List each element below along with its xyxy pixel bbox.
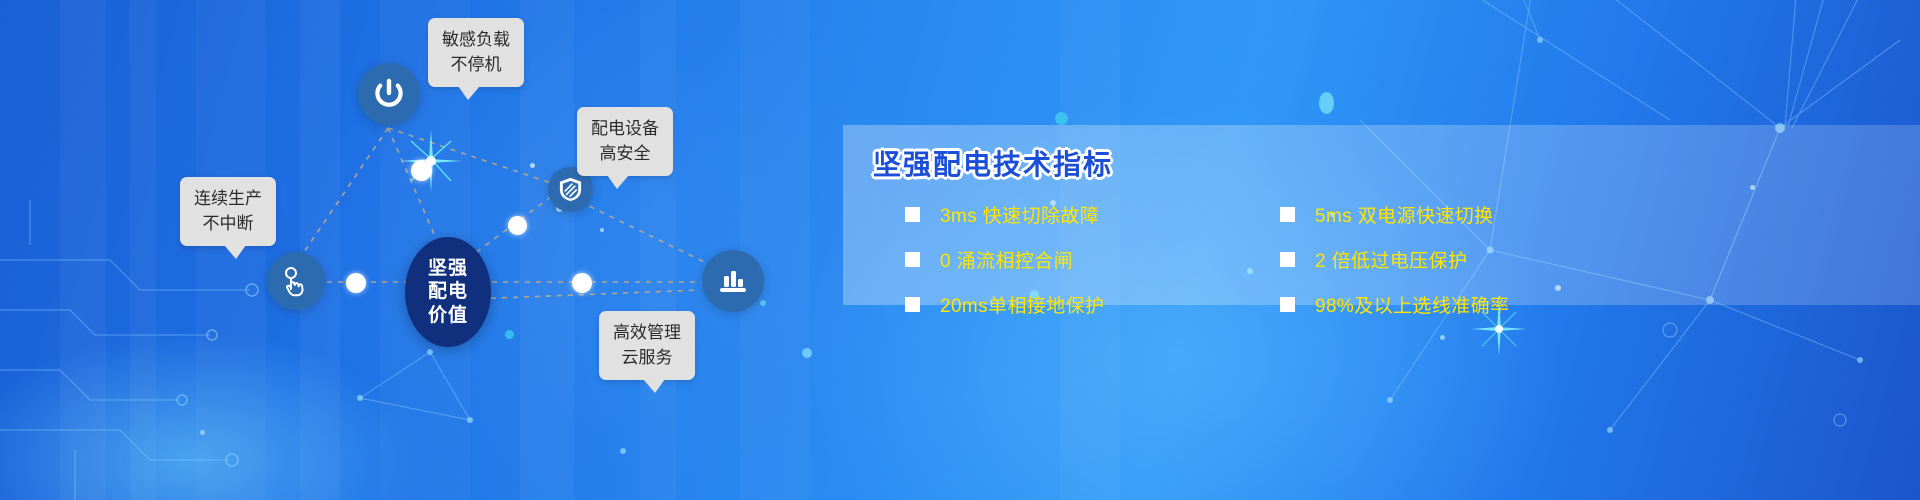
square-bullet-icon (905, 252, 920, 267)
indicator-item[interactable]: 20ms单相接地保护 (905, 291, 1280, 318)
node-touch[interactable] (267, 252, 325, 310)
value-network-diagram: 坚强 配电 价值 (0, 0, 860, 500)
tech-indicators-panel: 坚强配电技术指标 3ms 快速切除故障 5ms 双电源快速切换 0 涌流相控合闸… (843, 125, 1920, 305)
callout-line: 高安全 (591, 142, 659, 167)
callout-tail (458, 86, 480, 100)
indicator-label: 0 涌流相控合闸 (940, 246, 1073, 273)
square-bullet-icon (1280, 297, 1295, 312)
callout-touch: 连续生产 不中断 (180, 177, 276, 246)
callout-line: 不停机 (442, 53, 510, 78)
callout-tail (224, 245, 246, 259)
square-bullet-icon (905, 297, 920, 312)
route-dot (346, 273, 366, 293)
callout-line: 云服务 (613, 346, 681, 371)
node-chart[interactable] (702, 250, 764, 312)
panel-title: 坚强配电技术指标 (873, 143, 1113, 183)
indicator-label: 3ms 快速切除故障 (940, 201, 1099, 228)
square-bullet-icon (905, 207, 920, 222)
indicator-list: 3ms 快速切除故障 5ms 双电源快速切换 0 涌流相控合闸 2 倍低过电压保… (905, 201, 1905, 318)
callout-line: 敏感负载 (442, 28, 510, 53)
indicator-item[interactable]: 98%及以上选线准确率 (1280, 291, 1655, 318)
route-dot (508, 216, 527, 235)
power-button-icon (371, 76, 407, 112)
hub-node[interactable]: 坚强 配电 价值 (405, 237, 491, 347)
callout-line: 配电设备 (591, 117, 659, 142)
callout-line: 不中断 (194, 212, 262, 237)
bar-chart-cloud-icon (715, 263, 751, 299)
square-bullet-icon (1280, 252, 1295, 267)
callout-line: 高效管理 (613, 321, 681, 346)
callout-power: 敏感负载 不停机 (428, 18, 524, 87)
indicator-item[interactable]: 5ms 双电源快速切换 (1280, 201, 1655, 228)
route-dot (411, 160, 432, 181)
indicator-label: 98%及以上选线准确率 (1315, 291, 1509, 318)
indicator-item[interactable]: 3ms 快速切除故障 (905, 201, 1280, 228)
hand-touch-icon (279, 264, 313, 298)
banner-stage: 坚强 配电 价值 (0, 0, 1920, 500)
shield-check-icon (557, 176, 584, 203)
indicator-label: 2 倍低过电压保护 (1315, 246, 1467, 273)
callout-shield: 配电设备 高安全 (577, 107, 673, 176)
node-power[interactable] (358, 63, 420, 125)
indicator-label: 5ms 双电源快速切换 (1315, 201, 1494, 228)
indicator-label: 20ms单相接地保护 (940, 291, 1104, 318)
callout-chart: 高效管理 云服务 (599, 311, 695, 380)
callout-line: 连续生产 (194, 187, 262, 212)
callout-tail (607, 175, 629, 189)
indicator-item[interactable]: 2 倍低过电压保护 (1280, 246, 1655, 273)
indicator-item[interactable]: 0 涌流相控合闸 (905, 246, 1280, 273)
hub-label: 坚强 配电 价值 (428, 257, 468, 327)
callout-tail (643, 379, 665, 393)
route-dot (572, 273, 592, 293)
square-bullet-icon (1280, 207, 1295, 222)
